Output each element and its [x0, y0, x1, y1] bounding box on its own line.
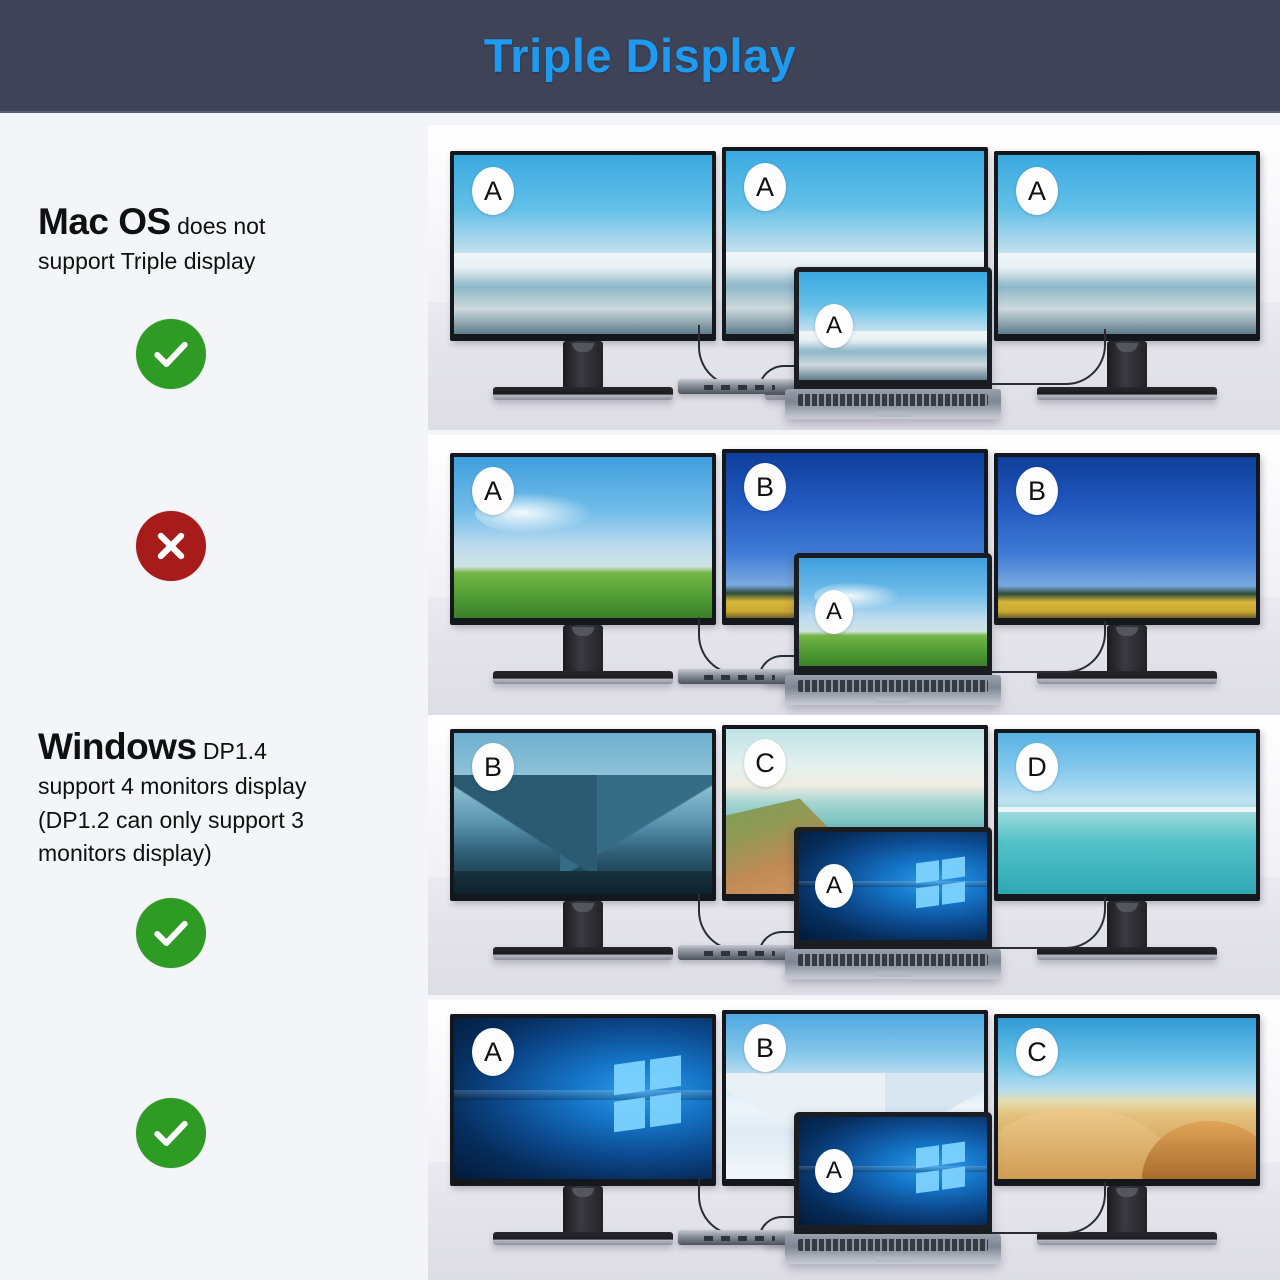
laptop-screen: A — [794, 1112, 992, 1234]
scene-windows-four-extend: B C D — [428, 715, 1280, 995]
monitor-label-badge: B — [1016, 467, 1058, 515]
monitor-base — [493, 671, 673, 684]
cable-right — [988, 621, 1106, 673]
usb-c-hub — [678, 669, 794, 684]
laptop-screen: A — [794, 267, 992, 389]
laptop-trackpad — [876, 1257, 911, 1262]
monitor-left: A — [450, 453, 716, 625]
monitor-neck — [1107, 625, 1147, 671]
laptop-keys — [798, 1239, 988, 1252]
cross-icon — [136, 511, 206, 581]
monitor-right: B — [994, 453, 1260, 625]
monitor-base — [493, 1232, 673, 1245]
laptop-keyboard — [785, 675, 1001, 705]
laptop: A — [794, 827, 992, 979]
monitor-left-screen: A — [450, 453, 716, 625]
check-icon — [136, 898, 206, 968]
mac-os-section: Mac OS does not support Triple display — [38, 198, 408, 279]
monitor-label-badge: B — [744, 463, 786, 511]
monitor-right: C — [994, 1014, 1260, 1186]
laptop-keyboard — [785, 1234, 1001, 1264]
usb-c-hub — [678, 1230, 794, 1245]
monitor-left-screen: A — [450, 1014, 716, 1186]
usb-c-hub — [678, 945, 794, 960]
check-icon — [136, 1098, 206, 1168]
laptop-trackpad — [876, 698, 911, 703]
monitor-left-screen: B — [450, 729, 716, 901]
monitor-label-badge: A — [744, 163, 786, 211]
windows-os-desc: DP1.4 — [197, 738, 267, 764]
monitor-label-badge: A — [472, 167, 514, 215]
monitor-right: A — [994, 151, 1260, 341]
monitor-label-badge: A — [1016, 167, 1058, 215]
monitor-base — [1037, 387, 1217, 400]
sidebar: Mac OS does not support Triple display W… — [0, 113, 428, 1280]
laptop-label-badge: A — [815, 590, 853, 634]
monitor-base — [493, 947, 673, 960]
laptop-label-badge: A — [815, 1149, 853, 1193]
monitor-neck — [1107, 901, 1147, 947]
scene-windows-three-extend: A B C — [428, 1000, 1280, 1280]
mac-os-heading: Mac OS does not support Triple display — [38, 198, 408, 279]
laptop-label-badge: A — [815, 304, 853, 348]
monitor-right-screen: D — [994, 729, 1260, 901]
laptop-screen: A — [794, 827, 992, 949]
monitor-left: A — [450, 151, 716, 341]
laptop: A — [794, 267, 992, 419]
monitor-right-screen: A — [994, 151, 1260, 341]
windows-line3: (DP1.2 can only support 3 — [38, 804, 408, 837]
laptop-keys — [798, 394, 988, 407]
page-title: Triple Display — [484, 28, 797, 83]
monitor-label-badge: B — [744, 1024, 786, 1072]
monitor-left: A — [450, 1014, 716, 1186]
laptop-keyboard — [785, 949, 1001, 979]
windows-line2: support 4 monitors display — [38, 770, 408, 803]
cable-right — [988, 1182, 1106, 1234]
laptop-label-badge: A — [815, 864, 853, 908]
monitor-right-screen: C — [994, 1014, 1260, 1186]
windows-section: Windows DP1.4 support 4 monitors display… — [38, 723, 408, 870]
laptop-keyboard — [785, 389, 1001, 419]
laptop-keys — [798, 954, 988, 967]
monitor-label-badge: D — [1016, 743, 1058, 791]
laptop-trackpad — [876, 412, 911, 417]
scene-panels: A A A — [428, 113, 1280, 1280]
monitor-neck — [1107, 1186, 1147, 1232]
monitor-label-badge: B — [472, 743, 514, 791]
windows-heading: Windows DP1.4 support 4 monitors display… — [38, 723, 408, 870]
laptop: A — [794, 553, 992, 705]
cable-right — [988, 329, 1106, 385]
monitor-left-screen: A — [450, 151, 716, 341]
laptop-screen: A — [794, 553, 992, 675]
monitor-neck — [563, 341, 603, 387]
monitor-neck — [563, 1186, 603, 1232]
monitor-left: B — [450, 729, 716, 901]
laptop-keys — [798, 680, 988, 693]
windows-logo-icon — [916, 857, 965, 909]
page-body: Mac OS does not support Triple display W… — [0, 113, 1280, 1280]
monitor-label-badge: C — [744, 739, 786, 787]
monitor-right: D — [994, 729, 1260, 901]
mac-os-desc: does not — [171, 213, 266, 239]
windows-logo-icon — [614, 1055, 681, 1132]
page-header: Triple Display — [0, 0, 1280, 113]
monitor-label-badge: A — [472, 1028, 514, 1076]
windows-os-name: Windows — [38, 726, 197, 767]
scene-mac-two-extend: A B B — [428, 435, 1280, 715]
check-icon — [136, 319, 206, 389]
monitor-base — [493, 387, 673, 400]
windows-logo-icon — [916, 1142, 965, 1194]
monitor-neck — [563, 901, 603, 947]
monitor-label-badge: A — [472, 467, 514, 515]
monitor-label-badge: C — [1016, 1028, 1058, 1076]
usb-c-hub — [678, 379, 794, 394]
cable-right — [988, 897, 1106, 949]
monitor-neck — [1107, 341, 1147, 387]
laptop-trackpad — [876, 972, 911, 977]
laptop: A — [794, 1112, 992, 1264]
monitor-right-screen: B — [994, 453, 1260, 625]
mac-os-line2: support Triple display — [38, 245, 408, 278]
windows-line4: monitors display) — [38, 837, 408, 870]
scene-mirror-mode: A A A — [428, 125, 1280, 430]
monitor-neck — [563, 625, 603, 671]
mac-os-name: Mac OS — [38, 201, 171, 242]
